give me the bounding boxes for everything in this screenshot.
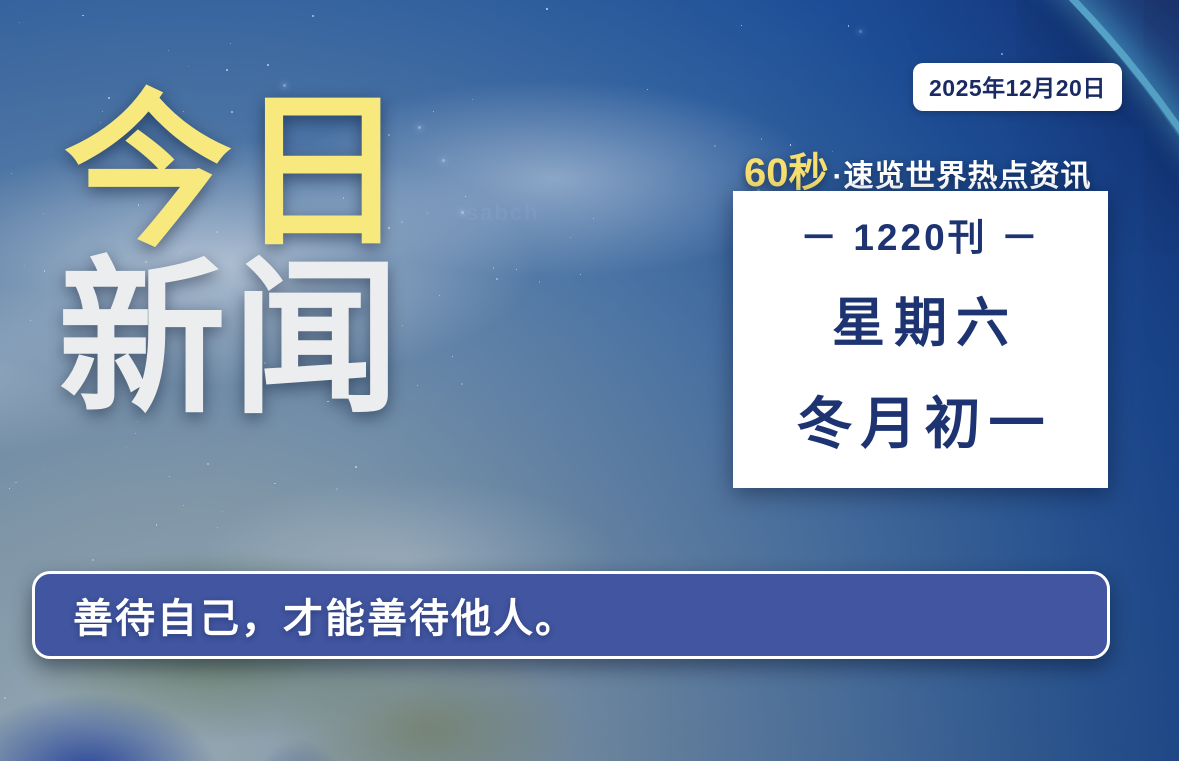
- lunar-date-label: 冬月初一: [789, 379, 1053, 460]
- info-card: － 1220刊 － 星期六 冬月初一: [733, 191, 1108, 488]
- tagline: 60秒·速览世界热点资讯: [744, 140, 1092, 198]
- quote-text: 善待自己，才能善待他人。: [73, 586, 577, 644]
- watermark-text: sabch: [466, 200, 540, 226]
- tagline-rest: ·速览世界热点资讯: [833, 160, 1092, 193]
- title-line-today: 今日: [64, 92, 412, 253]
- poster-title: 今日 新闻: [64, 92, 412, 421]
- date-badge: 2025年12月20日: [913, 63, 1122, 111]
- title-line-news: 新闻: [58, 259, 412, 420]
- weekday-label: 星期六: [823, 281, 1018, 357]
- tagline-seconds: 60秒: [744, 151, 829, 195]
- issue-number: － 1220刊 －: [800, 207, 1041, 261]
- news-poster: sabch 今日 新闻 2025年12月20日 60秒·速览世界热点资讯 － 1…: [0, 0, 1179, 761]
- quote-banner: 善待自己，才能善待他人。: [32, 571, 1110, 659]
